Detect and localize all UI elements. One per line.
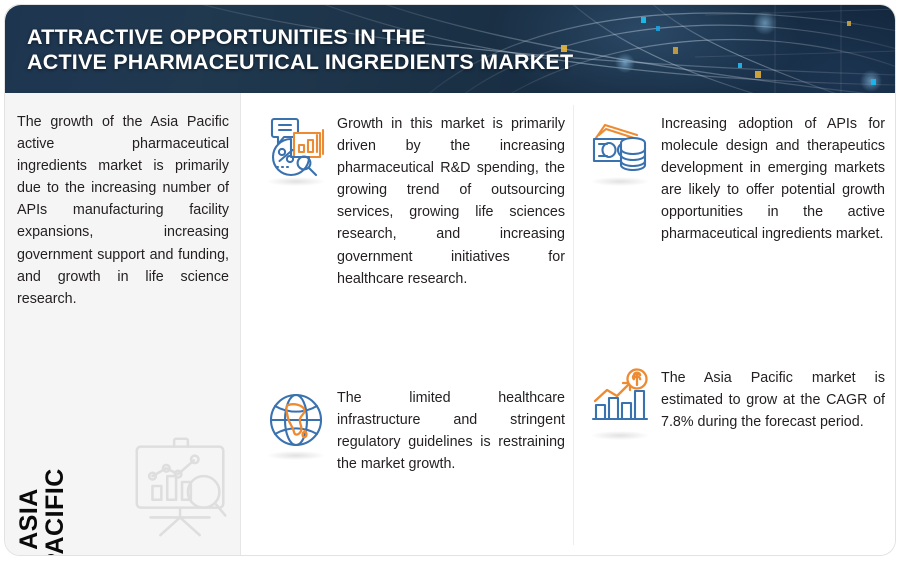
content-grid: Growth in this market is primarily drive…	[241, 93, 896, 556]
cell-opportunities-text: Increasing adoption of APIs for molecule…	[661, 113, 885, 246]
icon-shadow	[267, 451, 325, 460]
region-summary-text: The growth of the Asia Pacific active ph…	[17, 111, 229, 310]
page-title: ATTRACTIVE OPPORTUNITIES IN THE ACTIVE P…	[27, 25, 573, 75]
region-sidebar: The growth of the Asia Pacific active ph…	[5, 93, 241, 556]
icon-shadow	[591, 177, 649, 186]
money-coins-icon	[585, 111, 655, 181]
cell-cagr-text: The Asia Pacific market is estimated to …	[661, 367, 885, 433]
infographic-card: ATTRACTIVE OPPORTUNITIES IN THE ACTIVE P…	[4, 4, 896, 556]
region-name-label: ASIA PACIFIC	[16, 454, 68, 556]
icon-shadow	[591, 431, 649, 440]
presentation-chart-magnifier-icon	[123, 425, 241, 543]
globe-icon	[261, 385, 331, 455]
growth-chart-dollar-icon	[585, 365, 655, 435]
cell-drivers-text: Growth in this market is primarily drive…	[337, 113, 565, 290]
body-area: The growth of the Asia Pacific active ph…	[5, 93, 896, 556]
header-banner: ATTRACTIVE OPPORTUNITIES IN THE ACTIVE P…	[5, 5, 896, 93]
infographic-page: ATTRACTIVE OPPORTUNITIES IN THE ACTIVE P…	[0, 0, 900, 563]
cell-restraints-text: The limited healthcare infrastructure an…	[337, 387, 565, 475]
market-analytics-percent-icon	[261, 111, 331, 181]
column-divider	[573, 105, 574, 545]
icon-shadow	[267, 177, 325, 186]
